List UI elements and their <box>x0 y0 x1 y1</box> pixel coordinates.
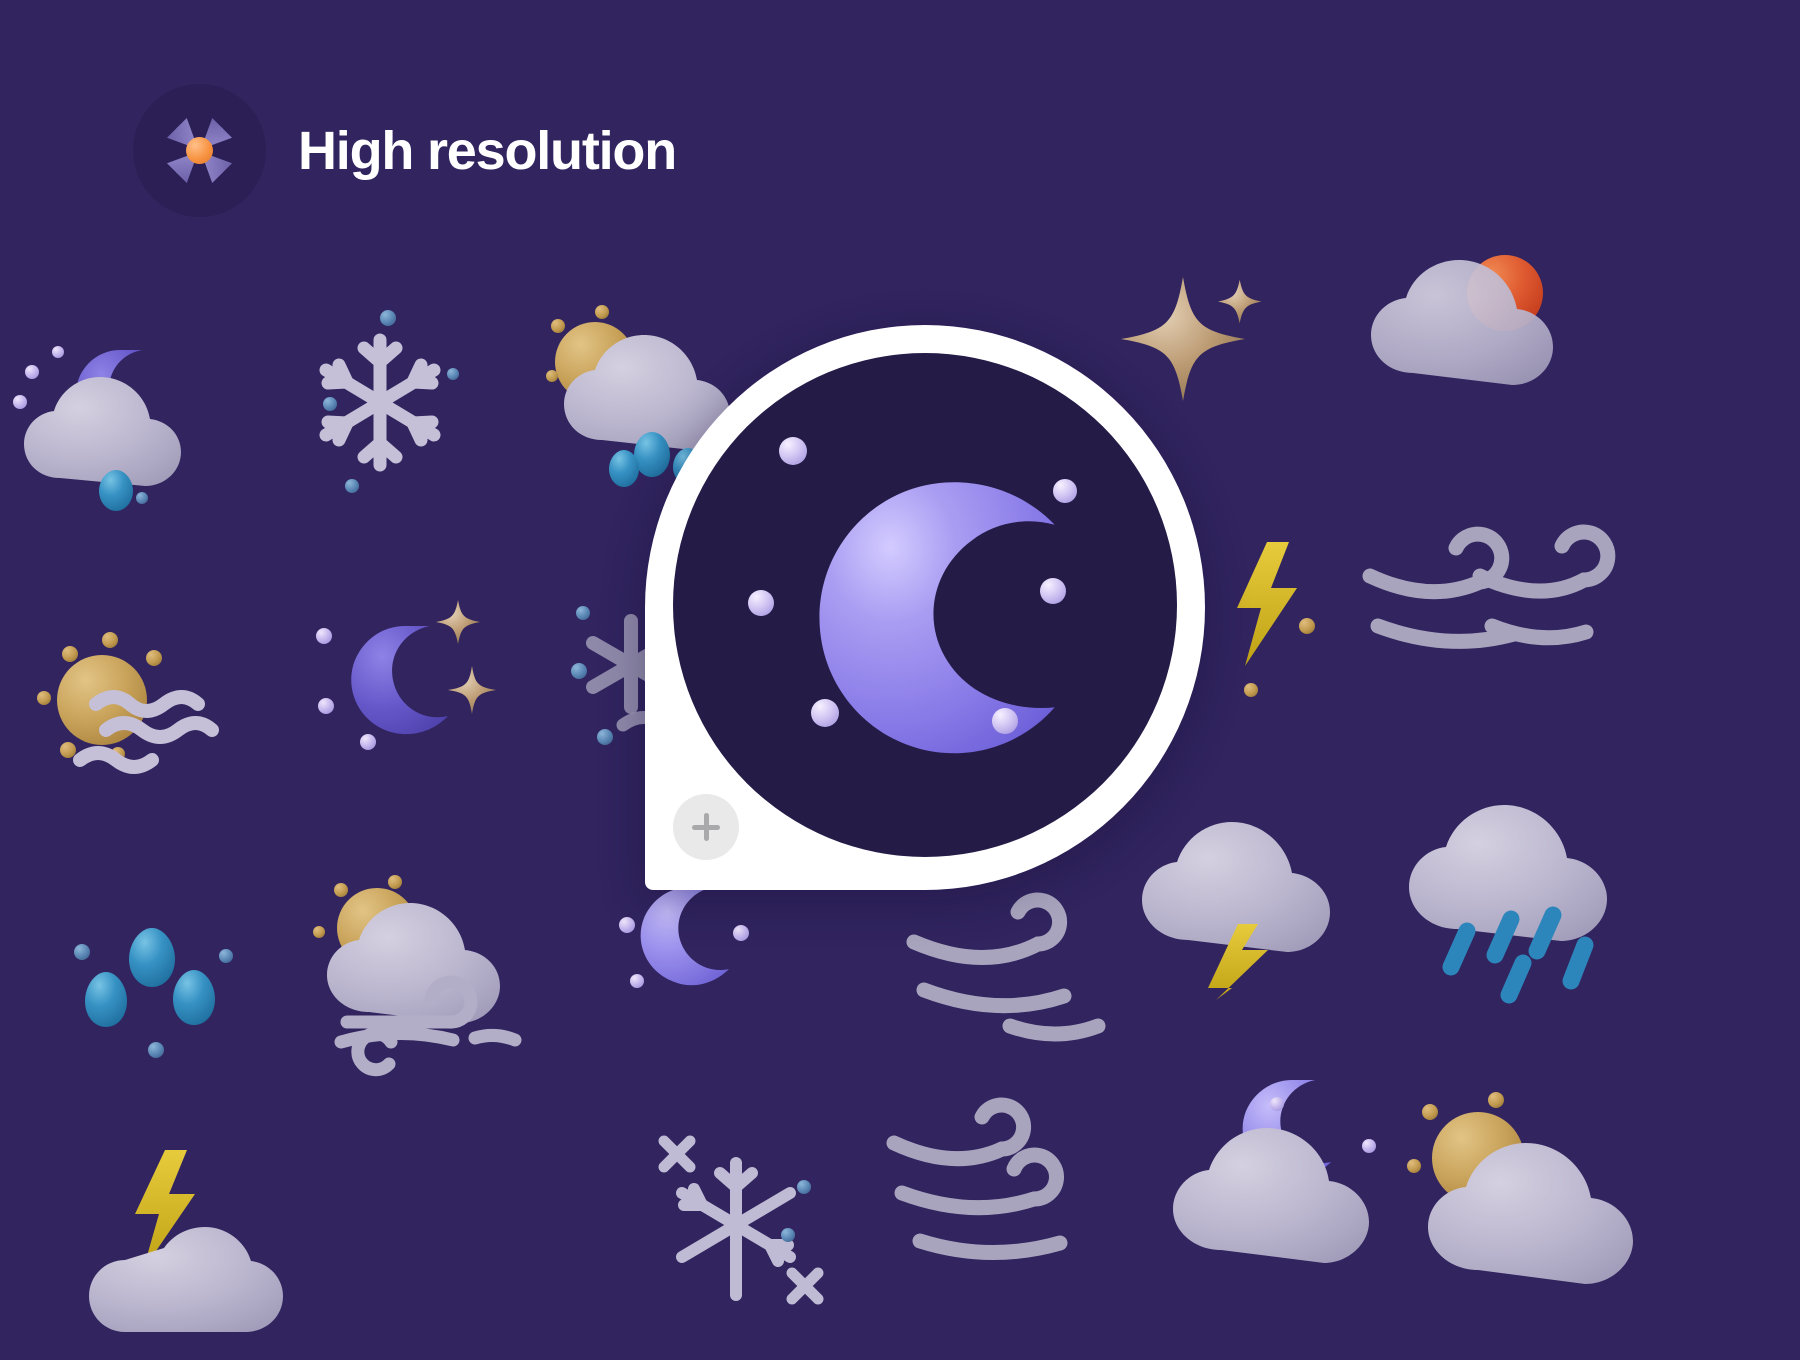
page-title: High resolution <box>298 120 676 182</box>
cloud-moon-rain-icon <box>10 330 230 530</box>
cloud-moon-icon <box>1165 1060 1395 1280</box>
lightning-bolt-icon <box>1215 530 1325 700</box>
center-accent-dot <box>186 137 213 164</box>
bubble-inner-canvas <box>673 353 1177 857</box>
lightning-bolt-icon <box>95 1140 315 1360</box>
sun-haze-fog-icon <box>30 620 270 800</box>
raindrops-icon <box>70 910 240 1080</box>
cloud-sun-wind-icon <box>305 870 545 1070</box>
moon-stars-icon <box>310 590 500 780</box>
clear-night-moon-icon <box>673 353 1177 857</box>
expand-arrows-icon <box>133 84 266 217</box>
plus-icon-vertical <box>704 813 709 841</box>
wind-swirl-icon <box>880 1095 1110 1275</box>
featured-icon-bubble[interactable] <box>645 325 1205 890</box>
cloud-sun-icon <box>1400 1070 1660 1290</box>
snowflake-icon <box>640 1105 830 1305</box>
wind-breeze-icon <box>900 890 1120 1050</box>
snowflake-icon <box>290 300 470 500</box>
page-header: High resolution <box>133 84 676 217</box>
rain-cloud-icon <box>1395 795 1645 995</box>
cloud-sunset-icon <box>1365 245 1565 395</box>
wind-swirl-icon <box>1360 530 1590 690</box>
add-icon-button[interactable] <box>673 794 739 860</box>
